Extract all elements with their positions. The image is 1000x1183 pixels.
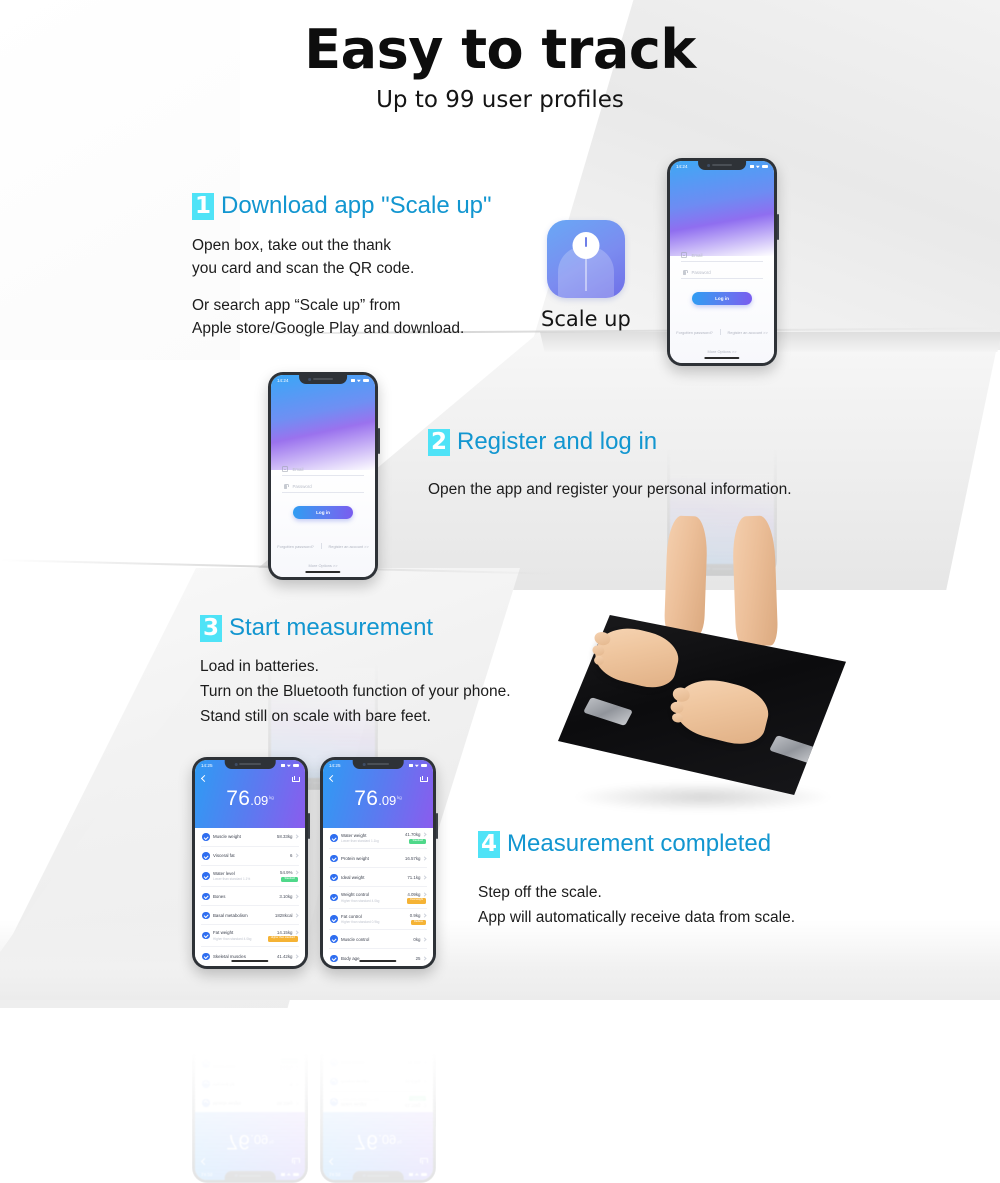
result-row-right: 58.33kg [277,834,298,839]
scale-app-icon[interactable] [547,220,625,298]
chevron-right-icon[interactable] [422,856,426,860]
result-row-texts: Ideal weight [341,1060,364,1065]
login-links-2: Forgotten password? Register an account … [271,543,375,549]
chevron-right-icon[interactable] [294,954,298,958]
result-row[interactable]: Muscle control0kg [329,930,427,949]
total-weight-display-left: 76.09kg [195,787,305,811]
result-row-value: 3.10kg [279,1041,292,1046]
check-circle-icon [330,874,338,882]
result-row-value-row: 16.57kg [405,1079,426,1084]
phone-reflection: 14:25 76.09kg Water weightLower than sta… [320,971,436,1183]
status-badge: Overweight [407,1036,426,1041]
step-4-line-2: App will automatically receive data from… [478,905,795,930]
result-row-value: 54.9% [280,1065,292,1070]
more-options-link[interactable]: More Options >> [670,349,774,354]
result-row-value: 0.9kg [410,1022,421,1027]
check-circle-icon [202,1040,210,1048]
front-camera-icon [707,164,710,167]
result-row-right: 0.9kgReduce [410,1015,426,1027]
battery-icon [293,1173,300,1176]
weight-decimal: .09 [378,1132,396,1147]
result-row-subtext: Higher than standard 4.0kg [213,937,251,941]
result-row-right: 1828kcal [275,913,298,918]
check-circle-icon [330,1078,338,1086]
result-row-right: 4.09kgOverweight [407,1036,426,1048]
result-row-left: Fat controlHigher than standard 0.9kg [330,1016,379,1026]
result-row-value-row: 41.70kg [405,1103,426,1108]
result-row[interactable]: Muscle weight58.33kg [201,828,299,847]
result-row-value: 0.9kg [410,913,421,918]
earpiece-speaker [712,164,732,166]
chevron-right-icon[interactable] [294,854,298,858]
result-row-texts: Water weightLower than standard 1.1kg [341,1097,379,1107]
result-row[interactable]: Water weightLower than standard 1.1kg41.… [329,828,427,849]
check-circle-icon [202,1080,210,1088]
chevron-right-icon[interactable] [422,1022,426,1026]
result-row-value: 58.33kg [277,1101,293,1106]
power-button[interactable] [436,1101,438,1127]
result-row-left: Protein weight [330,1078,369,1086]
chevron-right-icon[interactable] [422,937,426,941]
earpiece-speaker [367,763,388,765]
wifi-icon [756,165,760,168]
result-row-left: Ideal weight [330,1059,364,1067]
wifi-icon [415,764,419,767]
results-header-left [195,1112,305,1180]
result-row-value-row: 71.1kg [407,875,426,880]
result-row-texts: Muscle control [341,937,369,942]
password-field-2[interactable]: Password [282,483,363,493]
page-title: Easy to track [0,22,1000,79]
power-button[interactable] [436,813,438,839]
front-camera-icon [234,763,237,766]
step-2-body: Open the app and register your personal … [428,478,792,501]
phone-results-right: 14:25 76.09kg Water weightLower than sta… [320,757,436,969]
result-row-subtext: Higher than standard 4.0kg [341,899,379,903]
background-panel-bottom [0,920,1000,1000]
chevron-right-icon[interactable] [294,1082,298,1086]
weight-integer: 76 [226,787,250,810]
result-row[interactable]: Muscle weight58.33kg [201,1093,299,1112]
status-badge: Standard [281,877,298,882]
register-account-link[interactable]: Register an account >> [728,330,768,335]
result-row-value: 41.70kg [405,1103,421,1108]
result-row-texts: Fat weightHigher than standard 4.0kg [213,930,251,940]
share-icon[interactable] [292,776,298,782]
step-2-title: Register and log in [457,428,657,456]
result-row-right: 58.33kg [277,1101,298,1106]
result-row-right: 41.70kgStandard [405,832,426,844]
result-row-label: Water weight [341,833,379,838]
step-3-body: Load in batteries. Turn on the Bluetooth… [200,654,511,729]
result-row-right: 14.15kgHigher than standard [268,930,298,942]
step-1-spacer [192,281,492,294]
result-row-value: 6 [290,853,292,858]
login-button[interactable]: Log in [692,292,752,305]
electrode-top-right [769,735,819,764]
register-account-link-2[interactable]: Register an account >> [329,544,369,549]
result-row-left: Water levelLower than standard 1.1% [202,1059,250,1069]
result-row[interactable]: Bones3.10kg [201,1034,299,1053]
earpiece-speaker [367,1175,388,1177]
result-row[interactable]: Fat weightHigher than standard 4.0kg14.1… [201,925,299,946]
status-bar-time-2: 14:24 [277,378,289,383]
step-1-line-2: you card and scan the QR code. [192,257,492,280]
result-row-right: 54.9%Standard [280,870,298,882]
earpiece-speaker [239,763,260,765]
result-row-label: Body age [341,956,360,961]
result-row-value: 4.09kg [407,892,420,897]
status-bar-3: 14:25 [195,1169,305,1180]
result-row-label: Muscle weight [213,1101,241,1106]
result-row-value: 4.09kg [407,1043,420,1048]
email-field-2[interactable]: Email [282,466,363,476]
result-row-label: Bones [213,1041,225,1046]
check-circle-icon [202,833,210,841]
result-row-right: 6 [290,1082,298,1087]
result-row-right: 1828kcal [275,1022,298,1027]
result-row-label: Basal metabolism [213,1022,248,1027]
share-icon[interactable] [420,776,426,782]
check-circle-icon [202,1099,210,1107]
login-gradient-header [670,161,774,256]
status-badge: Overweight [407,898,426,903]
forgot-password-link-2[interactable]: Forgotten password? [277,544,314,549]
battery-icon [363,379,370,382]
result-row-value: 16.57kg [405,1079,421,1084]
step-3-line-1: Load in batteries. [200,654,511,679]
result-row-subtext: Lower than standard 1.1% [213,877,250,881]
chevron-right-icon[interactable] [294,1065,298,1069]
check-circle-icon [202,893,210,901]
result-row-value-row: 4.09kg [407,1043,426,1048]
more-options-link-2[interactable]: More Options >> [271,563,375,568]
result-row-value-row: 6 [290,853,298,858]
chevron-right-icon[interactable] [294,1006,298,1010]
result-row[interactable]: Body age25 [329,949,427,966]
step-4-block: 4 Measurement completed Step off the sca… [478,830,795,930]
chevron-right-icon[interactable] [422,1061,426,1065]
result-row-right: 3.10kg [279,894,298,899]
result-row-right: 0.9kgReduce [410,913,426,925]
result-row[interactable]: Skeletal muscles41.42kg [201,947,299,966]
result-row-left: Muscle control [330,935,369,943]
check-circle-icon [202,852,210,860]
result-row-value: 71.1kg [407,1060,420,1065]
result-row-value-row: 0kg [413,937,426,942]
result-row-left: Weight controlHigher than standard 4.0kg [330,892,379,902]
step-3-heading: 3 Start measurement [200,614,511,642]
result-row-subtext: Higher than standard 0.9kg [341,1016,379,1020]
password-field[interactable]: Password [681,269,762,279]
result-row-value-row: 3.10kg [279,1041,298,1046]
result-row-texts: Weight controlHigher than standard 4.0kg [341,892,379,902]
chevron-right-icon[interactable] [422,1080,426,1084]
result-row-texts: Visceral fat [213,853,235,858]
result-row-right: 41.70kgStandard [405,1096,426,1108]
phone-login-top: 14:24 Email Password Log in Forgotten pa… [667,158,777,366]
chevron-right-icon[interactable] [294,1042,298,1046]
result-row[interactable]: Bones3.10kg [201,887,299,906]
share-icon[interactable] [292,1159,298,1165]
id-card-icon [282,466,288,472]
step-1-line-4: Apple store/Google Play and download. [192,317,492,340]
result-row-subtext: Higher than standard 4.0kg [341,1037,379,1041]
signal-icon [351,379,355,382]
result-row-label: Muscle control [341,937,369,942]
password-placeholder: Password [691,270,710,275]
chevron-right-icon[interactable] [422,913,426,917]
power-button[interactable] [308,1101,310,1127]
status-bar-icons [750,165,768,168]
phone-notch-3 [225,1171,276,1180]
result-row[interactable]: Water levelLower than standard 1.1%54.9%… [201,866,299,887]
step-3-number-badge: 3 [200,615,222,642]
phone-results-left-screen: 14:25 76.09kg Muscle weight58.33kgViscer… [195,760,305,966]
email-field[interactable]: Email [681,252,762,262]
result-row-label: Water weight [341,1102,379,1107]
result-row-texts: Fat controlHigher than standard 0.9kg [341,1016,379,1026]
result-row[interactable]: Weight controlHigher than standard 4.0kg… [329,1031,427,1052]
result-row[interactable]: Protein weight16.57kg [329,1072,427,1091]
result-row-label: Skeletal muscles [213,954,246,959]
weight-unit: kg [269,1140,273,1145]
check-circle-icon [202,953,210,961]
chevron-right-icon[interactable] [294,894,298,898]
page-subtitle: Up to 99 user profiles [0,87,1000,113]
result-row-value: 3.10kg [279,894,292,899]
signal-icon [409,1173,413,1176]
result-row-texts: Basal metabolism [213,1022,248,1027]
check-circle-icon [330,1039,338,1047]
result-row-texts: Protein weight [341,1079,369,1084]
status-bar-time-4: 14:25 [329,763,341,768]
step-2-number-badge: 2 [428,429,450,456]
check-circle-icon [330,935,338,943]
result-row-left: Body age [330,955,360,963]
total-weight-display-right: 76.09kg [323,787,433,811]
result-row-right: 16.57kg [405,1079,426,1084]
result-row-value-row: 58.33kg [277,834,298,839]
result-row-value-row: 25 [416,956,426,961]
result-row-label: Weight control [341,1043,379,1048]
check-circle-icon [330,834,338,842]
result-row[interactable]: Weight controlHigher than standard 4.0kg… [329,887,427,908]
result-row[interactable]: Water weightLower than standard 1.1kg41.… [329,1091,427,1112]
total-weight-display-right: 76.09kg [323,1129,433,1153]
result-row-label: Visceral fat [213,1082,235,1087]
step-4-line-1: Step off the scale. [478,880,795,905]
result-row[interactable]: Visceral fat6 [201,1074,299,1093]
weight-decimal: .09 [250,793,268,808]
result-row-value-row: 1828kcal [275,913,298,918]
result-row-subtext: Lower than standard 1.1% [213,1059,250,1063]
login-button-2[interactable]: Log in [293,506,353,519]
result-row-texts: Body age [341,956,360,961]
results-list-left[interactable]: Muscle weight58.33kgVisceral fat6Water l… [195,828,305,966]
result-row[interactable]: Ideal weight71.1kg [329,1053,427,1072]
check-circle-icon [330,1059,338,1067]
power-button[interactable] [308,813,310,839]
signal-icon [281,1173,285,1176]
result-row-left: Muscle weight [202,1099,241,1107]
chevron-right-icon[interactable] [422,957,426,961]
result-row-value: 1828kcal [275,913,293,918]
check-circle-icon [202,932,210,940]
result-row-value: 16.57kg [405,856,421,861]
result-row-label: Water level [213,871,250,876]
step-4-number-badge: 4 [478,831,500,858]
status-bar-time-4: 14:25 [329,1172,341,1177]
result-row-left: Water weightLower than standard 1.1kg [330,1097,379,1107]
chevron-right-icon[interactable] [422,1044,426,1048]
weight-decimal: .09 [378,793,396,808]
result-row-value-row: 41.42kg [277,954,298,959]
result-row-value-row: 14.15kg [277,930,298,935]
power-button[interactable] [378,428,380,454]
lock-icon [282,483,288,489]
wifi-icon [415,1173,419,1176]
step-1-body: Open box, take out the thank you card an… [192,234,492,340]
result-row-texts: Bones [213,894,225,899]
result-row-value: 0kg [413,937,420,942]
id-card-icon [681,252,687,258]
phone-results-right-screen: 14:25 76.09kg Water weightLower than sta… [323,760,433,966]
result-row-left: Basal metabolism [202,912,248,920]
check-circle-icon [202,872,210,880]
chevron-right-icon[interactable] [294,871,298,875]
result-row-value-row: 0.9kg [410,913,426,918]
step-1-number-badge: 1 [192,193,214,220]
front-camera-icon [362,763,365,766]
step-1-line-1: Open box, take out the thank [192,234,492,257]
result-row[interactable]: Basal metabolism1828kcal [201,906,299,925]
back-chevron-icon[interactable] [201,1158,208,1165]
phone-login-middle-screen: 14:24 Email Password Log in Forgotten pa… [271,375,375,577]
weight-integer: 76 [226,1130,250,1153]
chevron-right-icon[interactable] [422,833,426,837]
status-bar-icons-4 [409,1173,427,1176]
chevron-right-icon[interactable] [294,1023,298,1027]
result-row-subtext: Lower than standard 1.1kg [341,839,379,843]
result-row-texts: Bones [213,1041,225,1046]
battery-icon [421,1173,428,1176]
result-row-right: 4.09kgOverweight [407,892,426,904]
result-row-value: 41.42kg [277,954,293,959]
result-row-left: Bones [202,893,225,901]
result-row[interactable]: Ideal weight71.1kg [329,868,427,887]
chevron-right-icon[interactable] [422,875,426,879]
result-row[interactable]: Fat controlHigher than standard 0.9kg0.9… [329,909,427,930]
share-icon[interactable] [420,1159,426,1165]
result-row-left: Protein weight [330,855,369,863]
result-row-value-row: 1828kcal [275,1022,298,1027]
total-weight-display-left: 76.09kg [195,1129,305,1153]
check-circle-icon [330,955,338,963]
power-button[interactable] [777,214,779,240]
result-row[interactable]: Visceral fat6 [201,847,299,866]
back-chevron-icon[interactable] [329,1158,336,1165]
chevron-right-icon[interactable] [294,835,298,839]
result-row-value: 54.9% [280,870,292,875]
result-row-label: Basal metabolism [213,913,248,918]
result-row-right: 71.1kg [407,875,426,880]
status-bar-time: 14:24 [676,164,688,169]
status-badge: Reduce [411,1015,426,1020]
right-leg [732,515,779,646]
result-row-texts: Muscle weight [213,834,241,839]
check-circle-icon [202,1021,210,1029]
result-row-value-row: 54.9% [280,1065,298,1070]
phone-notch [698,161,746,170]
result-row-right: 3.10kg [279,1041,298,1046]
front-camera-icon [234,1174,237,1177]
check-circle-icon [330,1098,338,1106]
result-row-left: Fat controlHigher than standard 0.9kg [330,914,379,924]
chevron-right-icon[interactable] [422,1103,426,1107]
status-badge: Standard [409,1096,426,1101]
chevron-right-icon[interactable] [422,892,426,896]
step-4-heading: 4 Measurement completed [478,830,795,858]
status-badge: Standard [409,839,426,844]
result-row[interactable]: Protein weight16.57kg [329,849,427,868]
result-row-texts: Water levelLower than standard 1.1% [213,1059,250,1069]
result-row-label: Weight control [341,892,379,897]
electrode-top-left [583,697,633,726]
chevron-right-icon[interactable] [294,1101,298,1105]
step-4-title: Measurement completed [507,830,771,858]
step-3-title: Start measurement [229,614,433,642]
phone-login-top-screen: 14:24 Email Password Log in Forgotten pa… [670,161,774,363]
left-leg [664,515,708,636]
result-row-label: Bones [213,894,225,899]
login-links: Forgotten password? Register an account … [670,329,774,335]
result-row-label: Fat control [341,914,379,919]
chevron-right-icon[interactable] [294,930,298,934]
result-row-value-row: 4.09kg [407,892,426,897]
status-badge: Higher than standard [268,936,298,941]
result-row[interactable]: Basal metabolism1828kcal [201,1015,299,1034]
chevron-right-icon[interactable] [294,913,298,917]
result-row-value-row: 16.57kg [405,856,426,861]
result-row-texts: Water levelLower than standard 1.1% [213,871,250,881]
step-2-block: 2 Register and log in Open the app and r… [428,428,792,501]
step-1-heading: 1 Download app "Scale up" [192,192,492,220]
result-row-label: Ideal weight [341,875,364,880]
forgot-password-link[interactable]: Forgotten password? [676,330,713,335]
weight-unit: kg [397,1140,401,1145]
app-icon-block[interactable]: Scale up [541,220,631,331]
result-row-right: 6 [290,853,298,858]
result-row-label: Fat weight [213,930,251,935]
phone-notch-4 [353,760,404,769]
status-badge: Reduce [411,920,426,925]
results-list-right[interactable]: Water weightLower than standard 1.1kg41.… [323,828,433,966]
result-row-value: 71.1kg [407,875,420,880]
step-2-line-1: Open the app and register your personal … [428,478,792,501]
phone-notch-3 [225,760,276,769]
result-row-texts: Fat controlHigher than standard 0.9kg [341,914,379,924]
result-row-value: 6 [290,1082,292,1087]
result-row-label: Fat control [341,1021,379,1026]
result-row[interactable]: Water levelLower than standard 1.1%54.9%… [201,1053,299,1074]
status-bar-4: 14:25 [323,1169,433,1180]
status-bar-icons-4 [409,764,427,767]
result-row-value-row: 3.10kg [279,894,298,899]
battery-icon [762,165,769,168]
result-row[interactable]: Fat controlHigher than standard 0.9kg0.9… [329,1010,427,1031]
result-row-value-row: 71.1kg [407,1060,426,1065]
